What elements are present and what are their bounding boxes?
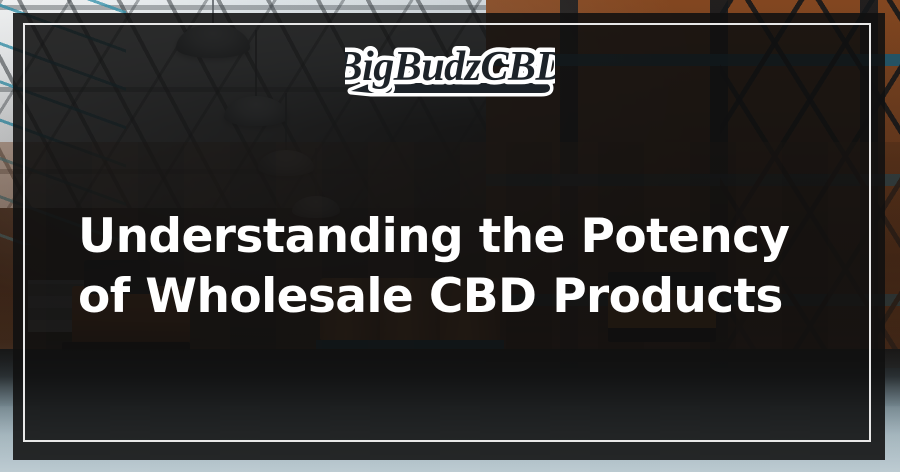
bigbudzcbd-logo-icon: BigBudzCBD BigBudzCBD BigBudzCBD: [345, 44, 555, 106]
brand-logo[interactable]: BigBudzCBD BigBudzCBD BigBudzCBD: [0, 44, 900, 106]
article-hero-banner: BigBudzCBD BigBudzCBD BigBudzCBD Underst…: [0, 0, 900, 472]
page-title-line-1: Understanding the Potency: [78, 207, 848, 266]
logo-wordmark: BigBudzCBD: [345, 44, 555, 90]
page-title-line-2: of Wholesale CBD Products: [78, 267, 848, 326]
page-title: Understanding the Potency of Wholesale C…: [78, 207, 848, 325]
